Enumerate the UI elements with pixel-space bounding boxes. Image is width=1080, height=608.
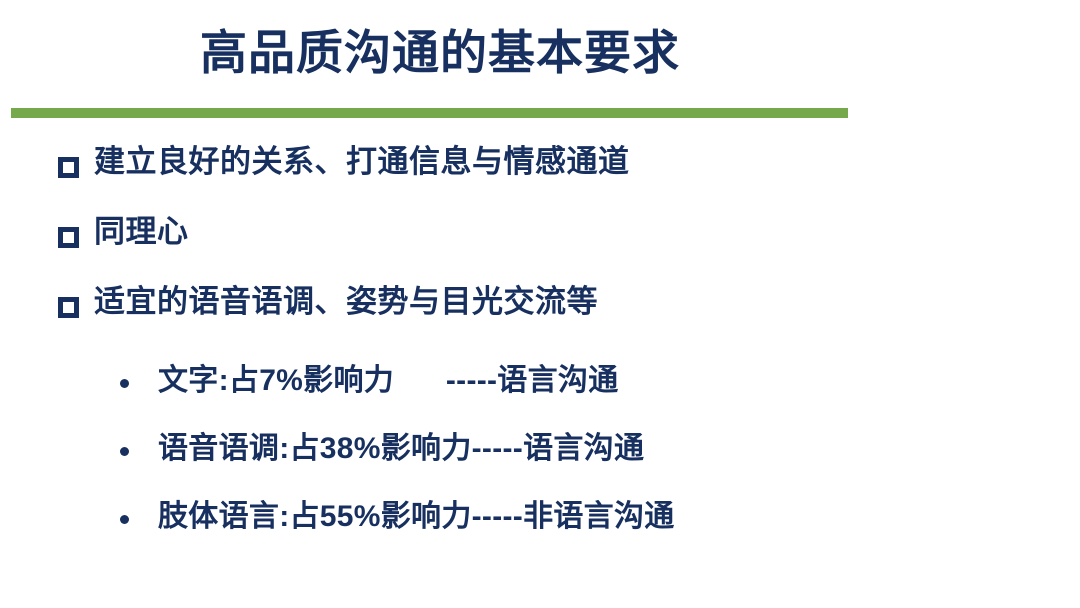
main-bullet-list: 建立良好的关系、打通信息与情感通道 同理心 适宜的语音语调、姿势与目光交流等 [58,142,998,352]
hollow-square-bullet-icon [58,227,79,248]
dot-bullet-icon [120,447,129,456]
page-title: 高品质沟通的基本要求 [200,26,680,80]
list-item: 同理心 [58,212,998,282]
sub-bullet-label: 肢体语言:占55%影响力-----非语言沟通 [158,498,675,536]
bullet-label: 建立良好的关系、打通信息与情感通道 [94,142,630,182]
hollow-square-bullet-icon [58,157,79,178]
list-item: 文字:占7%影响力 -----语言沟通 [120,362,1060,430]
title-block: 高品质沟通的基本要求 [0,26,880,80]
presentation-slide: 高品质沟通的基本要求 建立良好的关系、打通信息与情感通道 同理心 适宜的语音语调… [0,0,1080,608]
hollow-square-bullet-icon [58,297,79,318]
dot-bullet-icon [120,515,129,524]
list-item: 建立良好的关系、打通信息与情感通道 [58,142,998,212]
bullet-label: 同理心 [94,212,189,252]
list-item: 语音语调:占38%影响力-----语言沟通 [120,430,1060,498]
bullet-label: 适宜的语音语调、姿势与目光交流等 [94,282,598,322]
sub-bullet-label: 语音语调:占38%影响力-----语言沟通 [158,430,644,468]
sub-bullet-label: 文字:占7%影响力 -----语言沟通 [158,362,619,400]
dot-bullet-icon [120,379,129,388]
title-divider-rule [11,108,848,118]
list-item: 肢体语言:占55%影响力-----非语言沟通 [120,498,1060,566]
sub-bullet-list: 文字:占7%影响力 -----语言沟通 语音语调:占38%影响力-----语言沟… [120,362,1060,566]
list-item: 适宜的语音语调、姿势与目光交流等 [58,282,998,352]
